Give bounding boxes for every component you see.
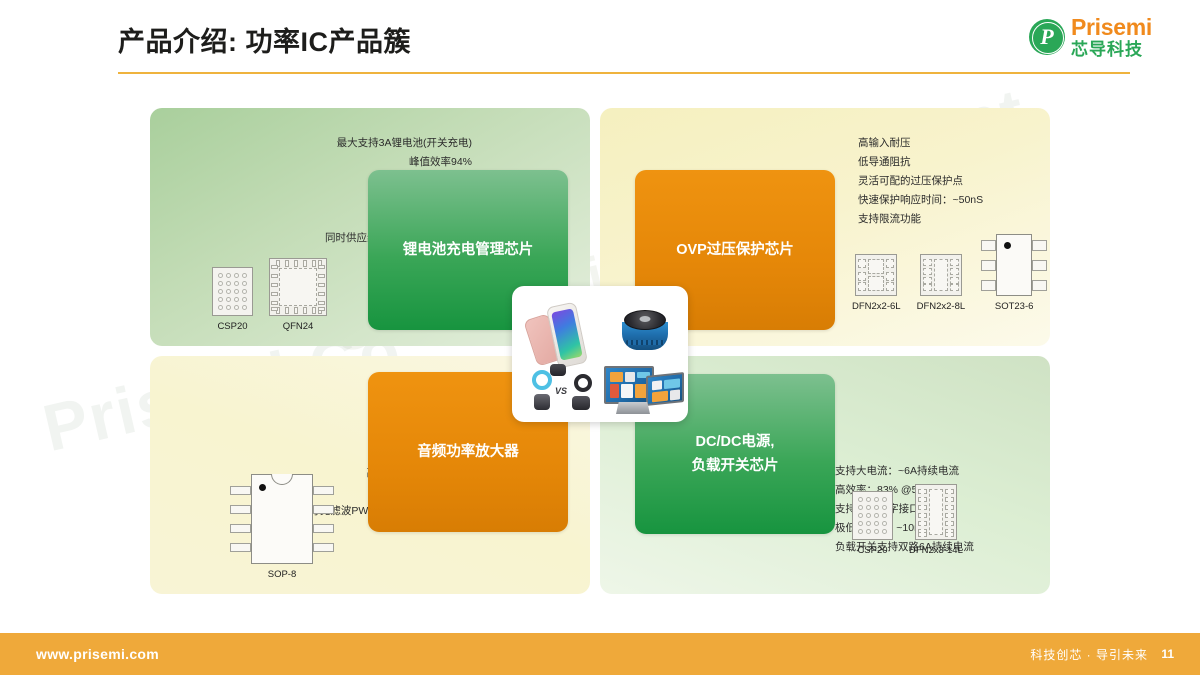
qfn-package-icon bbox=[269, 258, 327, 316]
tablet-stand bbox=[616, 402, 650, 414]
photo-tablets bbox=[600, 354, 682, 416]
product-family-board: 最大支持3A锂电池(开关充电) 峰值效率94% I²C控制 支持路径管理 支持O… bbox=[0, 86, 1200, 616]
package-row-dcdc: CSP20 bbox=[852, 484, 963, 556]
dfn6-package-icon bbox=[855, 254, 897, 296]
feature-item: 高输入耐压 bbox=[858, 134, 983, 153]
feature-item: 最大支持3A锂电池(开关充电) bbox=[325, 134, 472, 153]
smartwatch-icon bbox=[550, 364, 566, 376]
wearables-image: VS bbox=[528, 364, 600, 418]
sop8-package-icon bbox=[230, 474, 334, 564]
tablets-image bbox=[604, 362, 686, 418]
slide-header: 产品介绍: 功率IC产品簇 Prisemi 芯导科技 bbox=[0, 0, 1200, 76]
package-art-sot23 bbox=[981, 234, 1047, 296]
package-art-csp20 bbox=[212, 267, 253, 316]
prisemi-p-mark-icon bbox=[1029, 19, 1065, 55]
photo-bluetooth-speaker bbox=[600, 292, 682, 354]
speaker-grille bbox=[626, 340, 664, 345]
speaker-image bbox=[620, 310, 670, 354]
sot23-body bbox=[996, 234, 1032, 296]
package-art-csp20-dcdc bbox=[852, 491, 893, 540]
package-label: QFN24 bbox=[283, 321, 314, 332]
vs-label: VS bbox=[555, 386, 567, 396]
package-art-dfn14 bbox=[915, 484, 957, 540]
speaker-button bbox=[640, 316, 651, 322]
logo-english: Prisemi bbox=[1071, 16, 1152, 39]
bracelet-icon bbox=[532, 370, 552, 390]
dfn8-package-icon bbox=[920, 254, 962, 296]
photo-wearables: VS bbox=[518, 354, 600, 416]
package-art-dfn6 bbox=[855, 254, 897, 296]
package-label: SOT23-6 bbox=[995, 301, 1034, 312]
dfn14-package-icon bbox=[915, 484, 957, 540]
logo-wordmark: Prisemi 芯导科技 bbox=[1071, 16, 1152, 58]
package-label: DFN2x2-8L bbox=[917, 301, 966, 312]
package-art-sop8 bbox=[230, 474, 334, 564]
pin1-dot-icon bbox=[1004, 242, 1011, 249]
photo-smartphones bbox=[518, 292, 600, 354]
package-csp20-dcdc: CSP20 bbox=[852, 491, 893, 556]
product-card-label: DC/DC电源, bbox=[696, 430, 775, 454]
product-card-label: OVP过压保护芯片 bbox=[676, 238, 794, 262]
product-card-label: 锂电池充电管理芯片 bbox=[403, 238, 534, 262]
package-art-dfn8 bbox=[920, 254, 962, 296]
footer-website-url[interactable]: www.prisemi.com bbox=[36, 646, 159, 662]
speaker-top bbox=[624, 310, 666, 330]
csp-ball-grid-icon bbox=[852, 491, 893, 540]
feature-list-ovp: 高输入耐压 低导通阻抗 灵活可配的过压保护点 快速保护响应时间：~50nS 支持… bbox=[858, 134, 983, 229]
sop8-notch bbox=[271, 474, 293, 485]
package-dfn2x2-6l: DFN2x2-6L bbox=[852, 254, 901, 312]
package-sot23-6: SOT23-6 bbox=[981, 234, 1047, 312]
feature-item: 低导通阻抗 bbox=[858, 153, 983, 172]
product-card-label-line2: 负载开关芯片 bbox=[692, 454, 779, 478]
tablet-small bbox=[646, 372, 684, 406]
header-divider bbox=[118, 72, 1130, 74]
slide-footer: www.prisemi.com 科技创芯 · 导引未来 11 bbox=[0, 633, 1200, 675]
earbud-icon bbox=[574, 374, 592, 392]
headset-icon bbox=[572, 396, 590, 410]
package-label: DFN2x3-14L bbox=[909, 545, 963, 556]
package-row-battery-charging: CSP20 bbox=[212, 258, 327, 332]
brand-logo: Prisemi 芯导科技 bbox=[1029, 16, 1152, 58]
photo-grid: VS bbox=[518, 292, 682, 416]
package-label: CSP20 bbox=[857, 545, 887, 556]
logo-chinese: 芯导科技 bbox=[1071, 41, 1152, 58]
feature-item: 灵活可配的过压保护点 bbox=[858, 172, 983, 191]
package-label: DFN2x2-6L bbox=[852, 301, 901, 312]
footer-page-number: 11 bbox=[1161, 647, 1174, 661]
product-card-label: 音频功率放大器 bbox=[417, 440, 519, 464]
page-title: 产品介绍: 功率IC产品簇 bbox=[118, 20, 411, 59]
fitness-tracker-icon bbox=[534, 394, 550, 410]
pin1-dot-icon bbox=[259, 484, 266, 491]
package-qfn24: QFN24 bbox=[269, 258, 327, 332]
package-label: SOP-8 bbox=[268, 569, 297, 580]
tablet-screen bbox=[648, 374, 682, 404]
sot23-package-icon bbox=[981, 234, 1047, 296]
sop8-body bbox=[251, 474, 313, 564]
qfn-die-pad bbox=[279, 268, 317, 306]
package-sop-8: SOP-8 bbox=[230, 474, 334, 580]
package-label: CSP20 bbox=[217, 321, 247, 332]
feature-item: 快速保护响应时间：~50nS bbox=[858, 191, 983, 210]
feature-item: 支持限流功能 bbox=[858, 210, 983, 229]
package-row-audio: SOP-8 bbox=[230, 474, 334, 580]
package-row-ovp: DFN2x2-6L DFN2x2-8L bbox=[852, 234, 1047, 312]
footer-slogan: 科技创芯 · 导引未来 bbox=[1030, 646, 1148, 663]
package-csp20: CSP20 bbox=[212, 267, 253, 332]
package-dfn2x3-14l: DFN2x3-14L bbox=[909, 484, 963, 556]
package-art-qfn24 bbox=[269, 258, 327, 316]
product-application-photos: VS bbox=[512, 286, 688, 422]
csp-ball-grid-icon bbox=[212, 267, 253, 316]
package-dfn2x2-8l: DFN2x2-8L bbox=[917, 254, 966, 312]
feature-item: 支持大电流：~6A持续电流 bbox=[835, 462, 974, 481]
